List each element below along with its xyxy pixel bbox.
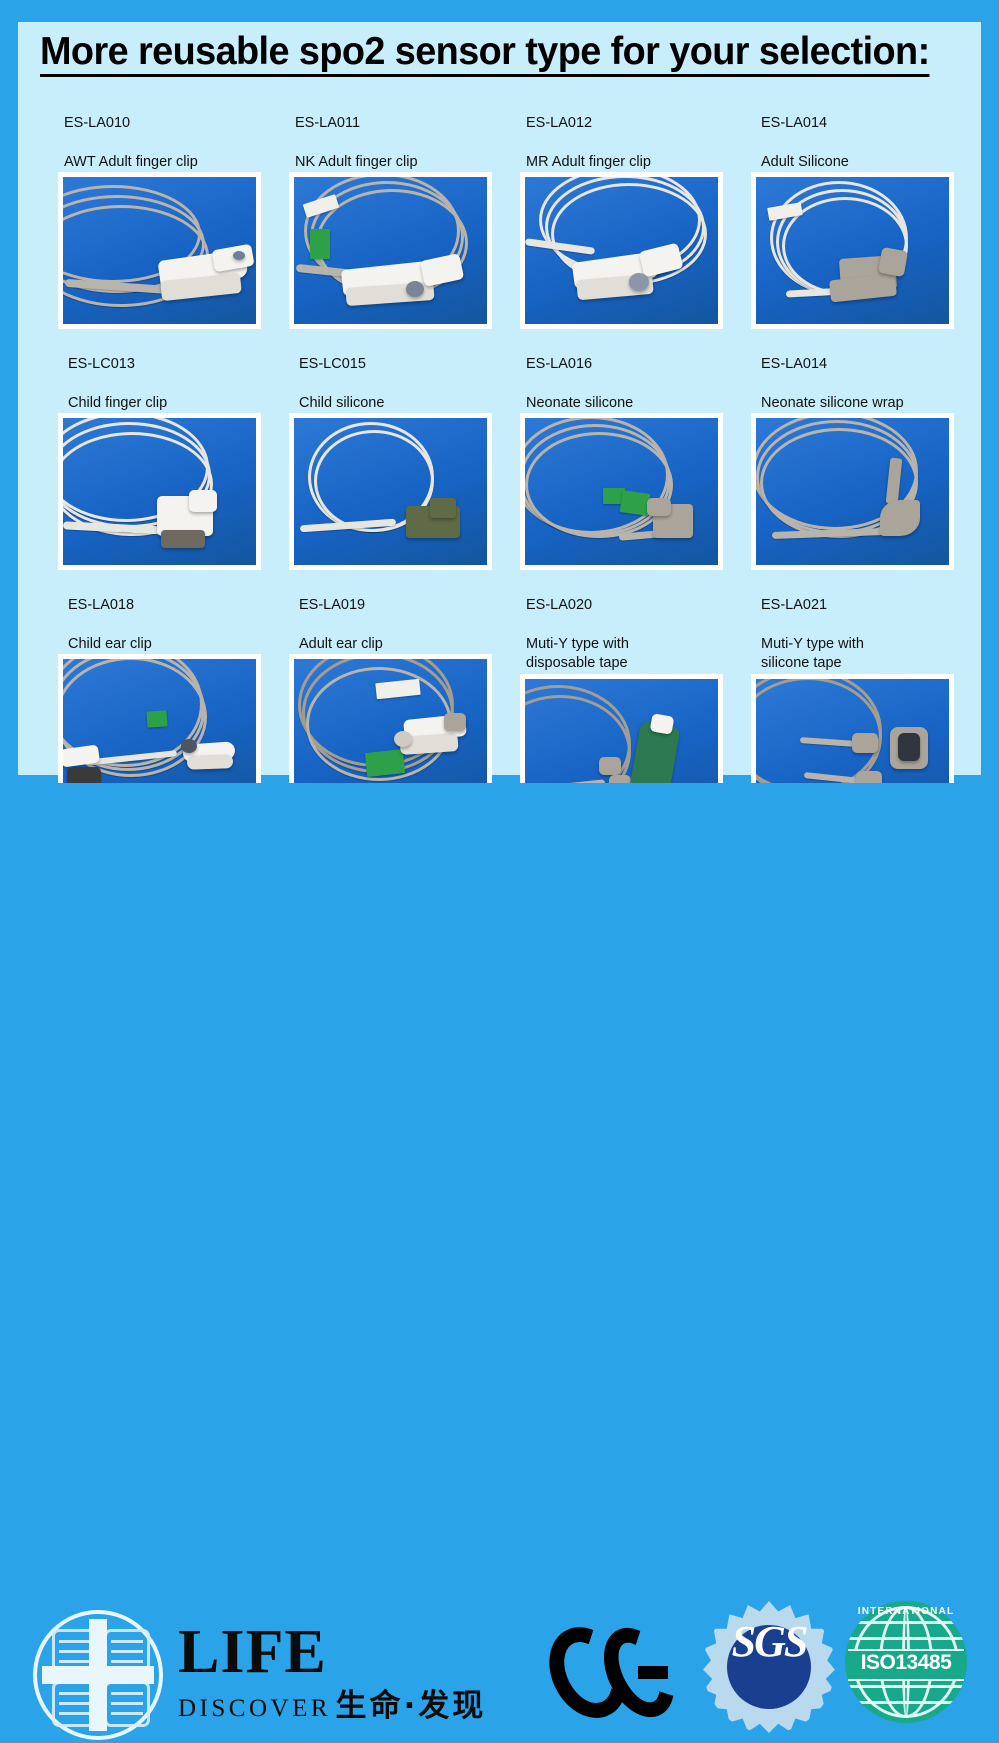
product-code: ES-LA010	[64, 115, 130, 131]
product-photo-child-silicone-olive	[294, 418, 487, 565]
product-row: ES-LC013 Child finger clip	[38, 335, 963, 570]
product-photo-adult-silicone-softtip	[756, 177, 949, 324]
product-image-frame[interactable]	[289, 172, 492, 329]
product-caption: ES-LC013 Child finger clip	[38, 335, 269, 413]
emblem-cross-horizontal	[42, 1666, 154, 1684]
product-image-frame[interactable]	[520, 172, 723, 329]
product-name: Neonate silicone	[526, 395, 633, 411]
product-caption: ES-LA016 Neonate silicone	[500, 335, 731, 413]
product-grid: ES-LA010 AWT Adult finger clip	[38, 94, 963, 837]
brand-name: LIFE	[178, 1621, 327, 1683]
product-name: Adult ear clip	[299, 636, 383, 652]
product-name: Adult Silicone	[761, 154, 849, 170]
product-caption: ES-LA018 Child ear clip	[38, 576, 269, 654]
iso-international-label: INTERNATIONAL	[845, 1606, 967, 1617]
product-caption: ES-LA011 NK Adult finger clip	[269, 94, 500, 172]
catalog-page: More reusable spo2 sensor type for your …	[0, 0, 999, 999]
product-code: ES-LA014	[761, 115, 827, 131]
product-cell[interactable]: ES-LA014 Adult Silicone	[731, 94, 962, 329]
product-caption: ES-LA014 Adult Silicone	[731, 94, 962, 172]
product-photo-neonate-silicone-wrap	[756, 418, 949, 565]
ce-letter-e-bar	[638, 1666, 668, 1679]
product-name: AWT Adult finger clip	[64, 154, 198, 170]
product-code: ES-LC013	[68, 356, 135, 372]
product-code: ES-LA011	[295, 115, 360, 131]
product-image-frame[interactable]	[751, 172, 954, 329]
product-name: Child silicone	[299, 395, 384, 411]
product-code: ES-LA021	[761, 597, 827, 613]
product-name: Child ear clip	[68, 636, 152, 652]
product-caption: ES-LA021 Muti-Y type with silicone tape	[731, 576, 962, 674]
page-title: More reusable spo2 sensor type for your …	[40, 32, 930, 77]
product-code: ES-LA019	[299, 597, 365, 613]
content-panel: More reusable spo2 sensor type for your …	[18, 22, 981, 775]
product-cell[interactable]: ES-LA011 NK Adult finger clip	[269, 94, 500, 329]
product-cell[interactable]: ES-LC013 Child finger clip	[38, 335, 269, 570]
product-cell[interactable]: ES-LA014 Neonate silicone wrap	[731, 335, 962, 570]
product-image-frame[interactable]	[520, 413, 723, 570]
product-code: ES-LC015	[299, 356, 366, 372]
product-caption: ES-LA019 Adult ear clip	[269, 576, 500, 654]
iso-standard-label: ISO13485	[845, 1651, 967, 1675]
product-cell[interactable]: ES-LA010 AWT Adult finger clip	[38, 94, 269, 329]
product-photo-adult-finger-clip-mr	[525, 177, 718, 324]
product-photo-adult-finger-clip-nk	[294, 177, 487, 324]
product-cell[interactable]: ES-LA012 MR Adult finger clip	[500, 94, 731, 329]
product-code: ES-LA018	[68, 597, 134, 613]
product-image-frame[interactable]	[751, 413, 954, 570]
brand-tagline: DISCOVER	[178, 1695, 331, 1722]
product-caption: ES-LA010 AWT Adult finger clip	[38, 94, 269, 172]
product-image-frame[interactable]	[58, 413, 261, 570]
product-cell[interactable]: ES-LC015 Child silicone	[269, 335, 500, 570]
product-row: ES-LA010 AWT Adult finger clip	[38, 94, 963, 329]
product-name: Child finger clip	[68, 395, 167, 411]
product-photo-neonate-silicone	[525, 418, 718, 565]
product-name: Muti-Y type with disposable tape	[526, 636, 629, 672]
product-name: Neonate silicone wrap	[761, 395, 904, 411]
product-name: MR Adult finger clip	[526, 154, 651, 170]
emblem-quadrant	[104, 1681, 150, 1727]
sgs-label: SGS	[703, 1617, 835, 1667]
product-caption: ES-LA020 Muti-Y type with disposable tap…	[500, 576, 731, 674]
product-caption: ES-LA012 MR Adult finger clip	[500, 94, 731, 172]
product-cell[interactable]: ES-LA016 Neonate silicone	[500, 335, 731, 570]
product-name: NK Adult finger clip	[295, 154, 418, 170]
brand-wordmark: LIFE DISCOVER 生命·发现	[178, 1621, 508, 1723]
brand-chinese-name: 生命·发现	[335, 1688, 486, 1724]
product-code: ES-LA014	[761, 356, 827, 372]
product-photo-child-finger-clip	[63, 418, 256, 565]
product-image-frame[interactable]	[58, 172, 261, 329]
product-code: ES-LA012	[526, 115, 592, 131]
iso-badge-icon: INTERNATIONAL ISO13485	[845, 1601, 967, 1723]
product-caption: ES-LA014 Neonate silicone wrap	[731, 335, 962, 413]
product-code: ES-LA020	[526, 597, 592, 613]
ce-mark-icon	[552, 1625, 667, 1720]
footer-bar: LIFE DISCOVER 生命·发现 SGS	[0, 783, 999, 999]
product-photo-adult-finger-clip-white	[63, 177, 256, 324]
page-title-wrap: More reusable spo2 sensor type for your …	[40, 32, 960, 77]
life-discover-emblem-icon	[30, 1607, 166, 1743]
product-caption: ES-LC015 Child silicone	[269, 335, 500, 413]
brand-tagline-block: DISCOVER 生命·发现	[178, 1683, 486, 1723]
product-image-frame[interactable]	[289, 413, 492, 570]
sgs-badge-icon: SGS	[703, 1601, 835, 1733]
product-code: ES-LA016	[526, 356, 592, 372]
product-name: Muti-Y type with silicone tape	[761, 636, 864, 672]
